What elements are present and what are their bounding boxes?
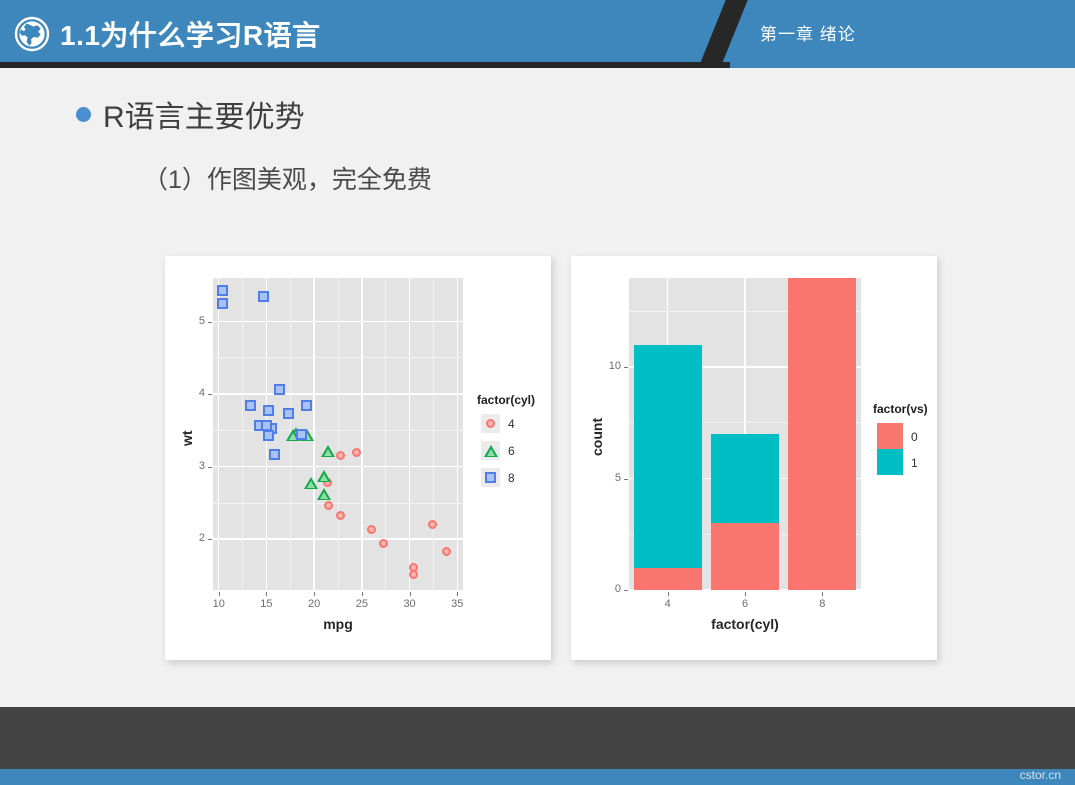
scatter-gridline-v [409, 278, 411, 590]
bar-xtick-label: 4 [658, 598, 678, 610]
scatter-point-cyl-8 [258, 291, 269, 302]
scatter-ytick-mark [208, 467, 212, 468]
scatter-xtick-label: 30 [401, 598, 419, 610]
scatter-gridline-h [213, 393, 463, 395]
bar-ytick-label: 10 [601, 360, 621, 372]
scatter-point-cyl-4 [409, 570, 418, 579]
scatter-point-cyl-8 [301, 400, 312, 411]
globe-icon [14, 16, 50, 52]
bar-segment-cyl8-vs0 [788, 278, 856, 590]
footer-strip [0, 769, 1075, 785]
scatter-xaxis-title: mpg [213, 616, 463, 632]
bar-legend-title: factor(vs) [873, 402, 928, 416]
scatter-gridline-v [218, 278, 220, 590]
bar-xtick-label: 6 [735, 598, 755, 610]
scatter-legend-label-6: 6 [508, 444, 515, 458]
header-chapter-label: 第一章 绪论 [760, 20, 856, 45]
scatter-ytick-mark [208, 539, 212, 540]
bar-segment-cyl6-vs0 [711, 523, 779, 590]
scatter-xtick-label: 35 [448, 598, 466, 610]
slide-root: 1.1为什么学习R语言 第一章 绪论 R语言主要优势 （1）作图美观，完全免费 … [0, 0, 1075, 785]
bar-xtick-mark [668, 592, 669, 596]
footer-bar [0, 707, 1075, 769]
scatter-point-cyl-8 [261, 420, 272, 431]
bar-segment-cyl6-vs1 [711, 434, 779, 523]
scatter-gridline-v [361, 278, 363, 590]
bar-yaxis-title: count [589, 418, 605, 456]
header-diagonal-divider [695, 0, 751, 68]
figures-container: 1015202530352345mpgwtfactor(cyl)468 0510… [165, 256, 937, 660]
bar-ytick-label: 5 [601, 472, 621, 484]
scatter-legend-glyph-8 [485, 472, 496, 483]
scatter-yaxis-title: wt [179, 430, 195, 446]
scatter-xtick-label: 25 [353, 598, 371, 610]
scatter-point-cyl-4 [442, 547, 451, 556]
scatter-gridline-v-minor [338, 278, 339, 590]
scatter-ytick-mark [208, 322, 212, 323]
scatter-point-cyl-8 [283, 408, 294, 419]
scatter-plot-card: 1015202530352345mpgwtfactor(cyl)468 [165, 256, 551, 660]
header-title: 1.1为什么学习R语言 [60, 14, 321, 54]
scatter-gridline-h [213, 321, 463, 323]
scatter-point-cyl-8 [245, 400, 256, 411]
scatter-legend-glyph-6 [484, 445, 498, 457]
scatter-point-cyl-8 [217, 285, 228, 296]
scatter-ytick-label: 2 [187, 532, 205, 544]
scatter-gridline-h-minor [213, 430, 463, 431]
scatter-point-cyl-8 [274, 384, 285, 395]
scatter-gridline-v [313, 278, 315, 590]
scatter-point-cyl-8 [263, 430, 274, 441]
scatter-ytick-mark [208, 394, 212, 395]
sub-point-text: （1）作图美观，完全免费 [143, 160, 432, 196]
scatter-gridline-h-minor [213, 357, 463, 358]
scatter-gridline-v-minor [433, 278, 434, 590]
scatter-gridline-h [213, 538, 463, 540]
bar-ytick-mark [624, 367, 628, 368]
bar-ytick-mark [624, 479, 628, 480]
bar-legend-swatch-0 [877, 423, 903, 449]
scatter-xtick-mark [266, 592, 267, 596]
header-rule [0, 62, 730, 68]
bar-xaxis-title: factor(cyl) [629, 616, 861, 632]
scatter-xtick-label: 20 [305, 598, 323, 610]
scatter-point-cyl-4 [324, 501, 333, 510]
footer-brand: cstor.cn [1020, 768, 1061, 782]
scatter-xtick-mark [362, 592, 363, 596]
scatter-ytick-label: 4 [187, 387, 205, 399]
header-title-group: 1.1为什么学习R语言 [14, 10, 321, 58]
bar-legend-label-0: 0 [911, 430, 918, 444]
bullet-row: R语言主要优势 [76, 92, 305, 136]
bar-segment-cyl4-vs1 [634, 345, 702, 568]
scatter-xtick-label: 10 [210, 598, 228, 610]
scatter-point-cyl-8 [217, 298, 228, 309]
scatter-legend-glyph-4 [486, 419, 495, 428]
scatter-plot: 1015202530352345mpgwtfactor(cyl)468 [165, 256, 551, 660]
scatter-point-cyl-6 [304, 477, 318, 489]
scatter-ytick-label: 3 [187, 460, 205, 472]
bullet-dot-icon [76, 107, 91, 122]
scatter-gridline-h [213, 466, 463, 468]
bar-chart-card: 0510468factor(cyl)countfactor(vs)01 [571, 256, 937, 660]
scatter-legend-label-4: 4 [508, 417, 515, 431]
bar-ytick-label: 0 [601, 583, 621, 595]
bar-chart: 0510468factor(cyl)countfactor(vs)01 [571, 256, 937, 660]
scatter-gridline-v-minor [242, 278, 243, 590]
scatter-xtick-mark [314, 592, 315, 596]
bar-xtick-label: 8 [812, 598, 832, 610]
scatter-gridline-h-minor [213, 503, 463, 504]
bar-legend-label-1: 1 [911, 456, 918, 470]
scatter-xtick-mark [219, 592, 220, 596]
scatter-point-cyl-6 [321, 445, 335, 457]
scatter-point-cyl-8 [296, 429, 307, 440]
scatter-point-cyl-4 [352, 448, 361, 457]
scatter-point-cyl-8 [263, 405, 274, 416]
scatter-legend-label-8: 8 [508, 471, 515, 485]
slide-header: 1.1为什么学习R语言 第一章 绪论 [0, 0, 1075, 68]
scatter-point-cyl-6 [317, 488, 331, 500]
scatter-xtick-label: 15 [257, 598, 275, 610]
bar-ytick-mark [624, 590, 628, 591]
bullet-title: R语言主要优势 [103, 92, 305, 136]
bar-legend-swatch-1 [877, 449, 903, 475]
bar-xtick-mark [822, 592, 823, 596]
scatter-point-cyl-8 [269, 449, 280, 460]
scatter-gridline-v [457, 278, 459, 590]
bar-xtick-mark [745, 592, 746, 596]
scatter-point-cyl-6 [317, 470, 331, 482]
scatter-point-cyl-4 [367, 525, 376, 534]
scatter-legend-title: factor(cyl) [477, 393, 535, 407]
bar-segment-cyl4-vs0 [634, 568, 702, 590]
scatter-xtick-mark [410, 592, 411, 596]
scatter-ytick-label: 5 [187, 315, 205, 327]
scatter-xtick-mark [457, 592, 458, 596]
